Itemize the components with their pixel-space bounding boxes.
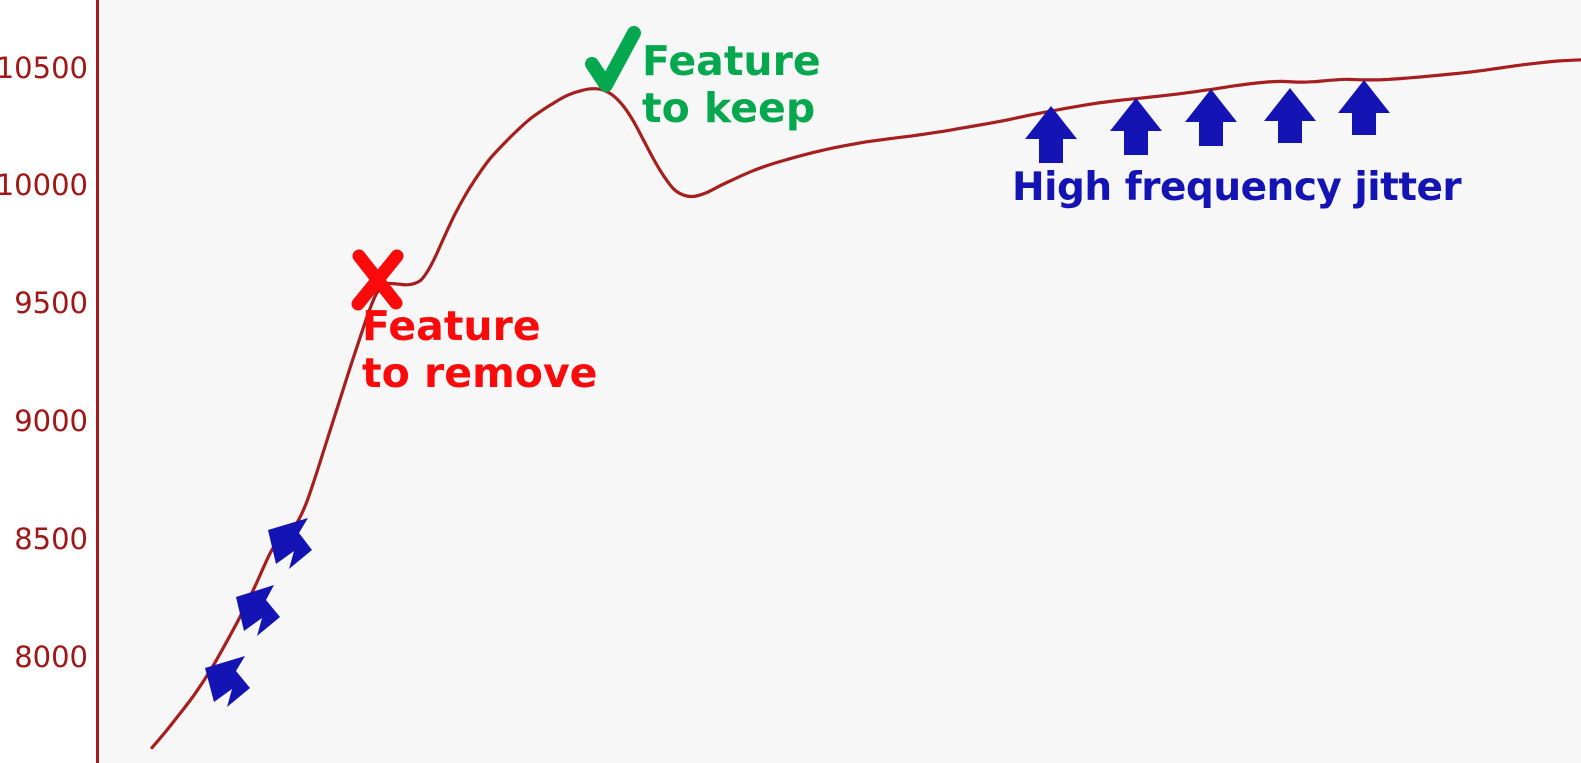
- up-arrow-icon: [1110, 98, 1162, 155]
- annotation-keep-line2: to keep: [642, 85, 821, 132]
- up-arrow-icon: [1185, 89, 1237, 146]
- annotation-feature-to-remove: Feature to remove: [362, 303, 598, 397]
- chart-figure: 10500 10000 9500 9000 8500 8000: [0, 0, 1581, 763]
- up-left-arrow-icon: [268, 518, 312, 569]
- annotation-high-frequency-jitter: High frequency jitter: [1012, 166, 1461, 211]
- up-arrow-icon: [1264, 88, 1316, 143]
- steep-rise-arrows: [205, 518, 312, 707]
- data-series-line: [152, 60, 1581, 748]
- check-mark-icon: [592, 33, 634, 85]
- jitter-up-arrows: [1025, 80, 1390, 163]
- up-left-arrow-icon: [205, 656, 250, 707]
- up-left-arrow-icon: [236, 585, 280, 636]
- annotation-remove-line2: to remove: [362, 350, 598, 397]
- up-arrow-icon: [1338, 80, 1390, 135]
- x-mark-icon: [358, 256, 397, 304]
- annotation-keep-line1: Feature: [642, 38, 821, 85]
- annotation-remove-line1: Feature: [362, 303, 598, 350]
- annotation-feature-to-keep: Feature to keep: [642, 38, 821, 132]
